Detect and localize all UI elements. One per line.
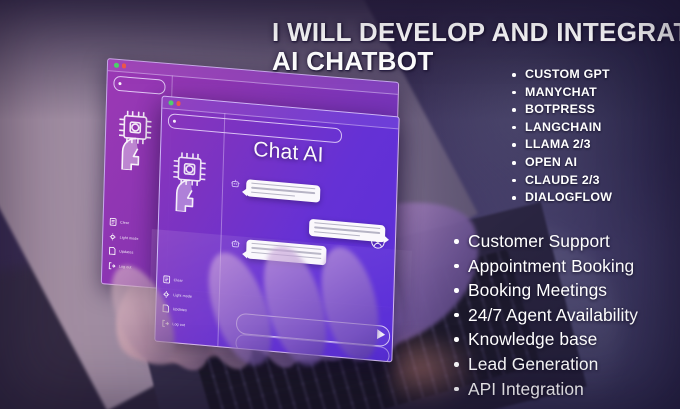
list-item: API Integration — [452, 377, 638, 402]
headline-line-1: I WILL DEVELOP AND INTEGRATE — [272, 19, 680, 48]
menu-item-updates[interactable]: Updates — [162, 304, 218, 317]
gig-thumbnail-banner: Clear Light mode Updates — [0, 0, 680, 409]
services-list: Customer Support Appointment Booking Boo… — [452, 229, 638, 401]
search-input[interactable] — [113, 76, 165, 95]
document-icon — [163, 275, 170, 284]
menu-item-label: Clear — [120, 220, 129, 225]
list-item: Lead Generation — [452, 352, 638, 377]
tech-stack-list: CUSTOM GPT MANYCHAT BOTPRESS LANGCHAIN L… — [512, 66, 612, 207]
chat-bubble-bot — [246, 179, 321, 203]
bot-avatar-icon — [230, 178, 240, 190]
menu-item-label: Log out — [172, 322, 185, 327]
search-icon — [118, 82, 121, 85]
list-item: Booking Meetings — [452, 278, 638, 303]
menu-item-label: Light mode — [120, 235, 139, 241]
list-item: DIALOGFLOW — [512, 189, 612, 207]
list-item: LANGCHAIN — [512, 119, 612, 137]
list-item: Customer Support — [452, 229, 638, 254]
bubble-text-line — [314, 231, 360, 236]
list-item: CUSTOM GPT — [512, 66, 612, 84]
bubble-tail — [242, 250, 247, 258]
bubble-text-line — [251, 191, 295, 196]
menu-item-label: Light mode — [173, 293, 192, 299]
page-icon — [109, 247, 116, 256]
window-dot-red-icon[interactable] — [176, 101, 181, 106]
list-item: Appointment Booking — [452, 254, 638, 279]
list-item: LLAMA 2/3 — [512, 136, 612, 154]
menu-item-label: Clear — [174, 278, 183, 283]
chat-title: Chat AI — [253, 138, 324, 168]
list-item: 24/7 Agent Availability — [452, 303, 638, 328]
list-item: Knowledge base — [452, 327, 638, 352]
search-icon — [173, 119, 176, 122]
window-dot-green-icon[interactable] — [114, 63, 119, 68]
document-icon — [109, 218, 116, 227]
ai-head-chip-icon — [167, 148, 221, 215]
logout-icon — [108, 261, 115, 270]
list-item: MANYCHAT — [512, 84, 612, 102]
user-avatar-icon[interactable] — [371, 234, 385, 249]
list-item: BOTPRESS — [512, 101, 612, 119]
sun-icon — [109, 232, 116, 241]
headline-line-2: AI CHATBOT — [272, 48, 680, 77]
window-dot-green-icon[interactable] — [168, 101, 173, 106]
bubble-tail — [242, 188, 247, 196]
menu-item-label: Updates — [173, 307, 187, 312]
sun-icon — [163, 290, 170, 299]
bot-avatar-icon — [230, 238, 240, 250]
window-dot-red-icon[interactable] — [121, 64, 126, 69]
list-item: OPEN AI — [512, 154, 612, 172]
list-item: CLAUDE 2/3 — [512, 172, 612, 190]
menu-item-label: Updates — [119, 249, 133, 254]
